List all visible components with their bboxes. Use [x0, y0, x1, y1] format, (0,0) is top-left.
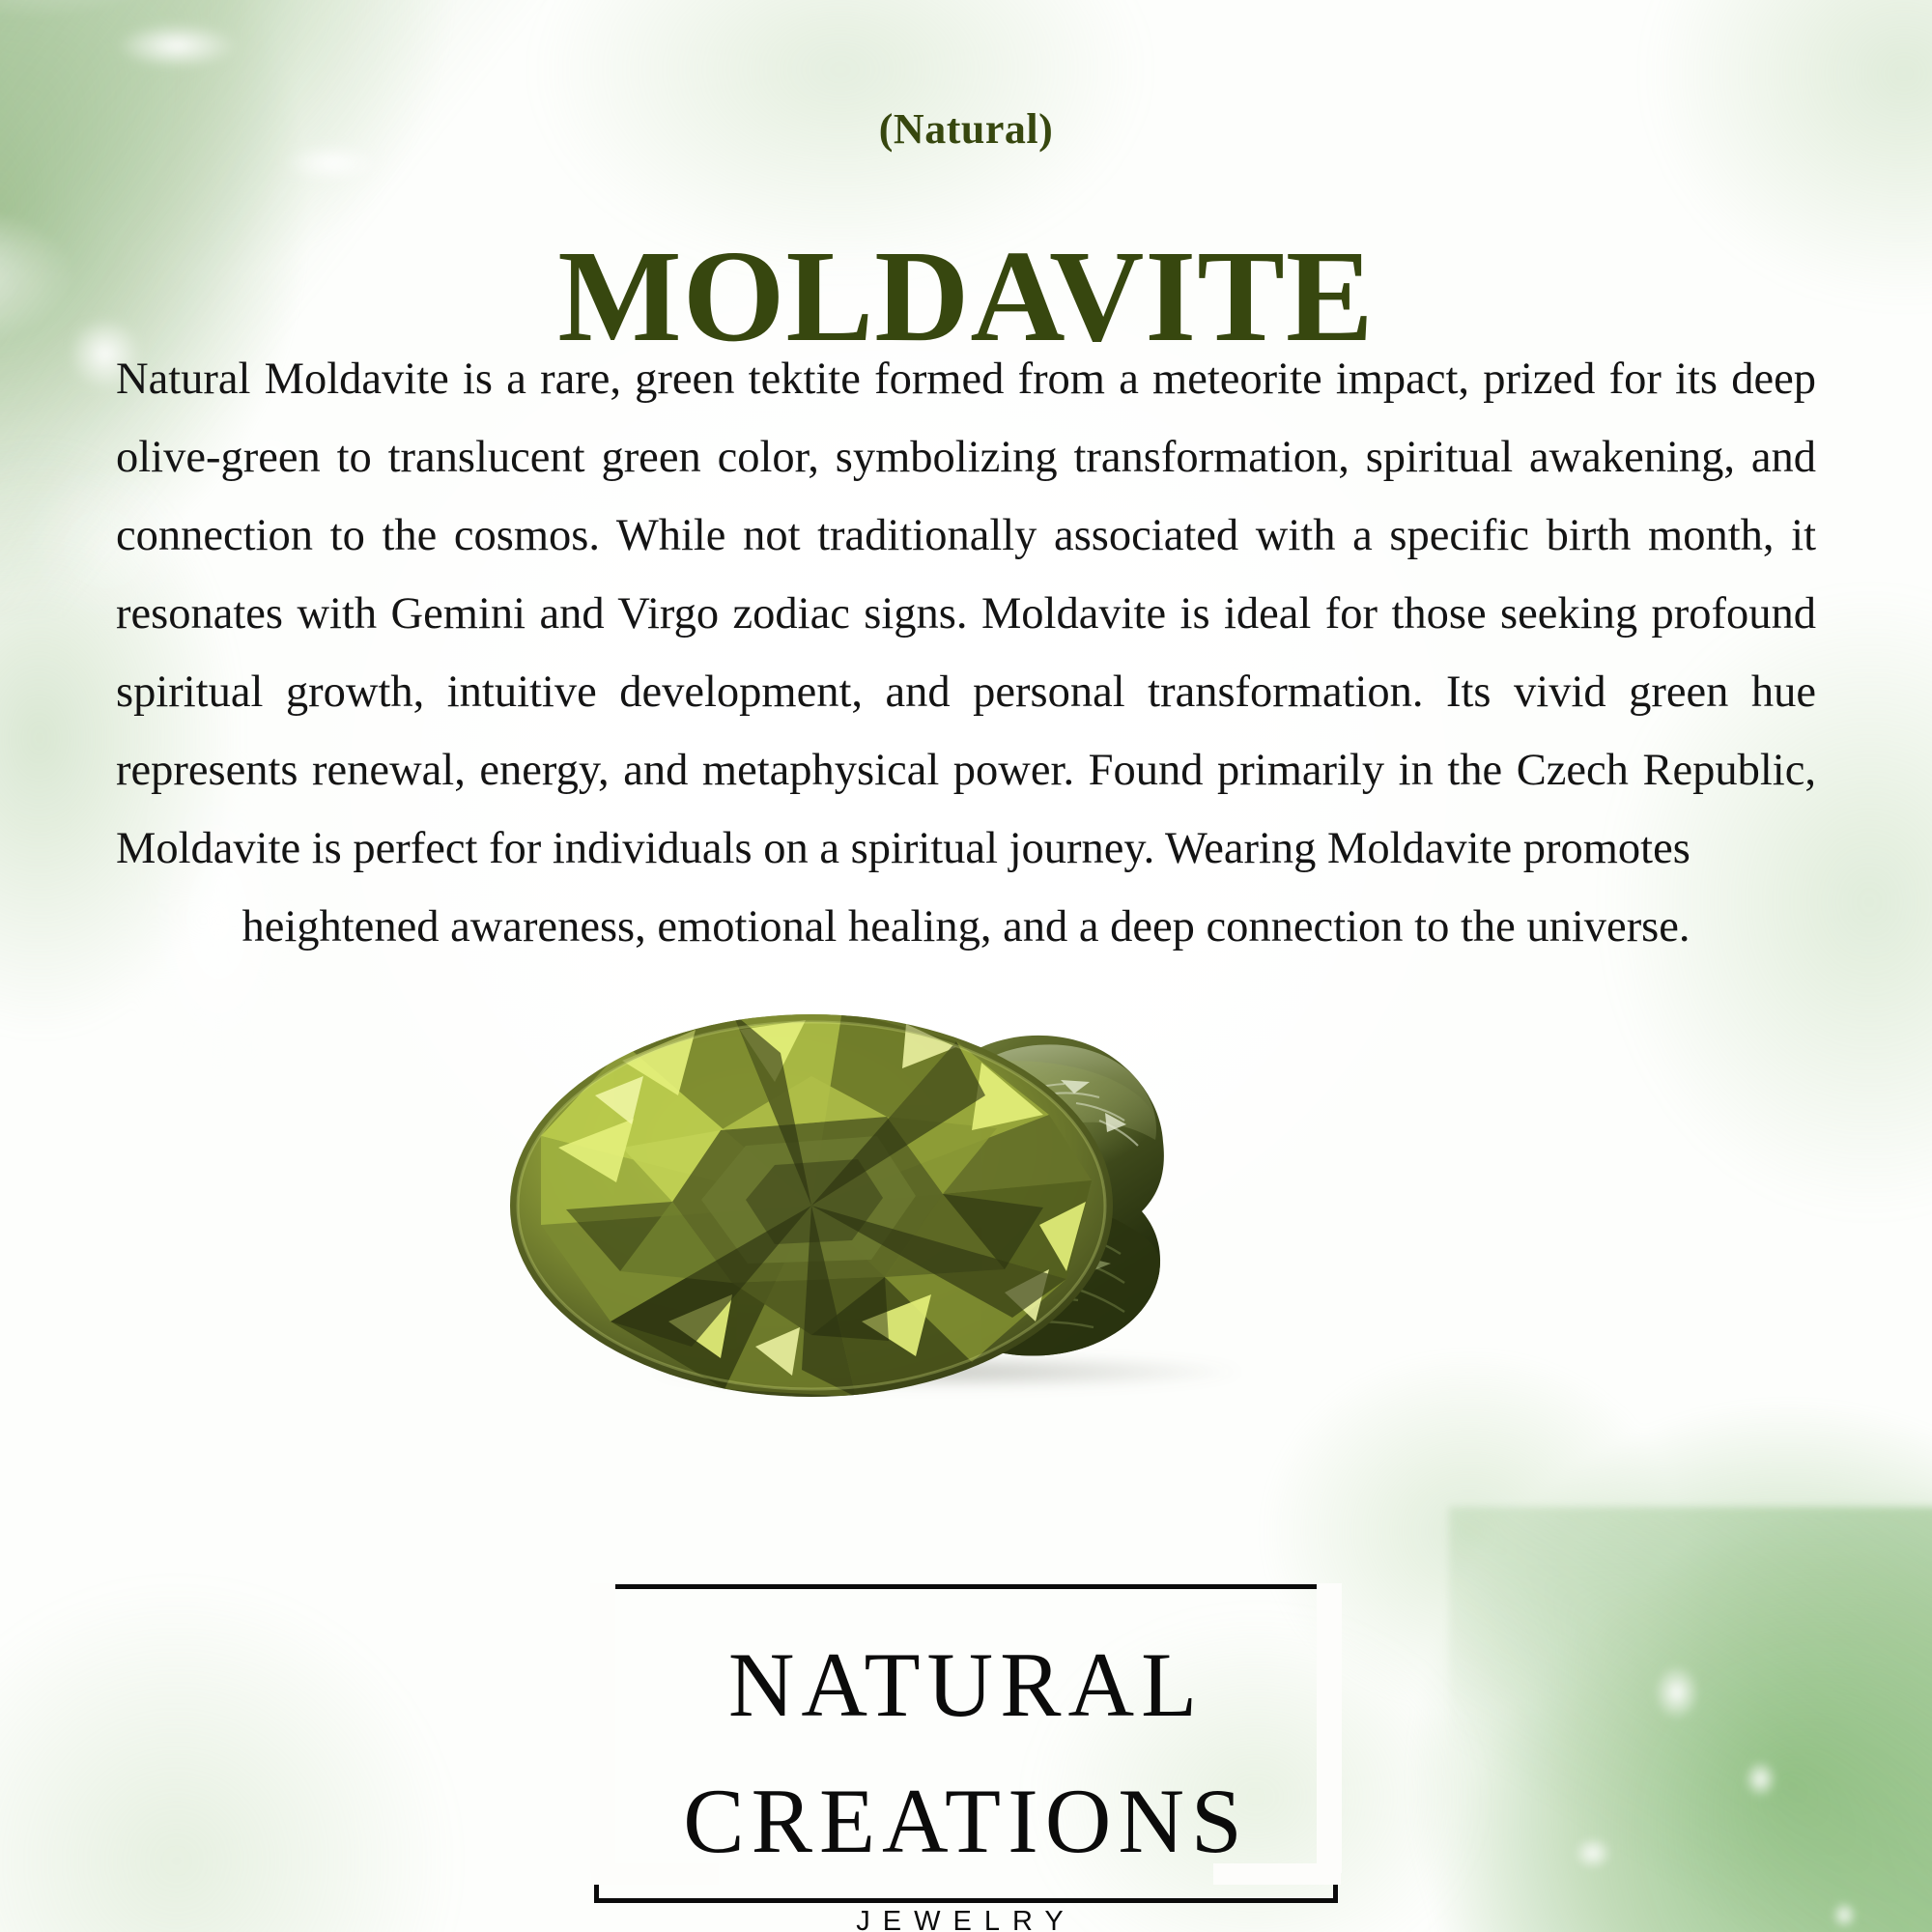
description-last-line: heightened awareness, emotional healing,… — [116, 888, 1816, 966]
logo-text-block: NATURAL CREATIONS JEWELRY — [599, 1589, 1333, 1932]
logo-line-creations: CREATIONS — [599, 1776, 1333, 1867]
eyebrow-natural-label: (Natural) — [0, 104, 1932, 154]
cut-moldavite-gemstone-icon — [502, 1003, 1121, 1408]
description-paragraph: Natural Moldavite is a rare, green tekti… — [116, 340, 1816, 966]
description-body: Natural Moldavite is a rare, green tekti… — [116, 355, 1816, 873]
logo-line-natural: NATURAL — [599, 1639, 1333, 1731]
brand-logo: NATURAL CREATIONS JEWELRY — [594, 1584, 1338, 1903]
gemstone-illustration — [502, 995, 1352, 1439]
poster-content: (Natural) MOLDAVITE Natural Moldavite is… — [0, 0, 1932, 1932]
moldavite-poster: (Natural) MOLDAVITE Natural Moldavite is… — [0, 0, 1932, 1932]
logo-subtitle-jewelry: JEWELRY — [599, 1906, 1333, 1932]
